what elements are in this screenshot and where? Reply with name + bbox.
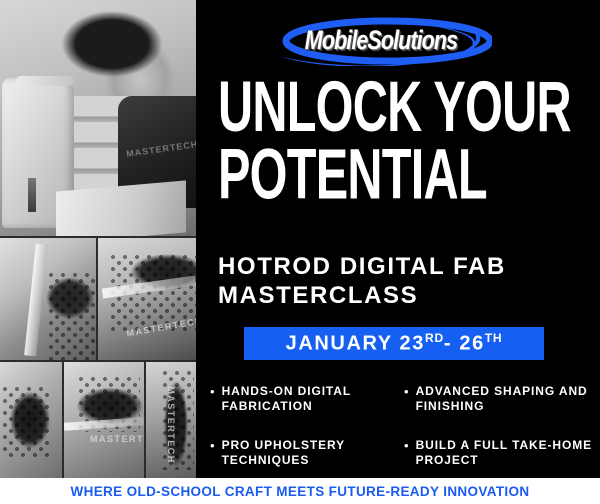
date-day-start: 23 [400, 333, 425, 355]
date-day-end: 26 [459, 333, 484, 355]
photo-fab-panel-left [0, 238, 96, 360]
panel-brand-text: MASTERTECH [166, 386, 176, 464]
date-badge-label: JANUARY 23RD- 26TH [286, 331, 503, 356]
feature-list: • HANDS-ON DIGITAL FABRICATION • ADVANCE… [210, 384, 596, 468]
page-title: UNLOCK YOUR POTENTIAL [218, 74, 507, 207]
photo-fab-panel-right: MASTERTECH [98, 238, 196, 360]
bullet-dot-icon: • [404, 384, 409, 399]
bullet-dot-icon: • [210, 438, 215, 453]
photo-grille-center: MASTERTECH [64, 362, 144, 480]
brand-logo[interactable]: MobileSolutions [270, 16, 492, 66]
subtitle-line-2: MASTERCLASS [218, 281, 590, 310]
date-badge: JANUARY 23RD- 26TH [244, 327, 544, 360]
poster-root: MASTERTECH MASTERTECH MASTERTECH MASTERT… [0, 0, 600, 504]
panel-brand-text: MASTERTECH [90, 434, 144, 444]
subtitle: HOTROD DIGITAL FAB MASTERCLASS [218, 252, 590, 311]
date-separator: - [444, 333, 459, 355]
bullet-dot-icon: • [210, 384, 215, 399]
bullet-dot-icon: • [404, 438, 409, 453]
list-item: • HANDS-ON DIGITAL FABRICATION [210, 384, 404, 414]
shirt-logo-text: MASTERTECH [126, 139, 196, 159]
photo-collage: MASTERTECH MASTERTECH MASTERTECH MASTERT… [0, 0, 196, 480]
sewing-machine-needle [28, 178, 36, 212]
list-item-label: PRO UPHOLSTERY TECHNIQUES [222, 438, 404, 468]
honeycomb-mesh-texture [48, 272, 96, 360]
photo-sewing-machine: MASTERTECH [0, 0, 196, 236]
subtitle-line-1: HOTROD DIGITAL FAB [218, 252, 590, 281]
date-day-end-suffix: TH [485, 331, 503, 345]
headline-line-2: POTENTIAL [218, 141, 507, 208]
list-item-label: BUILD A FULL TAKE-HOME PROJECT [416, 438, 596, 468]
honeycomb-mesh-texture [2, 386, 50, 458]
list-item-label: HANDS-ON DIGITAL FABRICATION [222, 384, 404, 414]
date-day-start-suffix: RD [425, 331, 444, 345]
date-month: JANUARY [286, 333, 400, 355]
metal-bar [24, 244, 48, 357]
list-item: • ADVANCED SHAPING AND FINISHING [404, 384, 596, 414]
sewing-machine-arm [16, 76, 74, 86]
photo-grille-left [0, 362, 62, 480]
list-item-label: ADVANCED SHAPING AND FINISHING [416, 384, 596, 414]
footer-bar: WHERE OLD-SCHOOL CRAFT MEETS FUTURE-READ… [0, 478, 600, 504]
photo-grille-right: MASTERTECH [146, 362, 196, 480]
list-item: • BUILD A FULL TAKE-HOME PROJECT [404, 438, 596, 468]
logo-wordmark: MobileSolutions [292, 25, 470, 56]
headline-line-1: UNLOCK YOUR [218, 74, 507, 141]
footer-tagline: WHERE OLD-SCHOOL CRAFT MEETS FUTURE-READ… [71, 484, 530, 499]
list-item: • PRO UPHOLSTERY TECHNIQUES [210, 438, 404, 468]
